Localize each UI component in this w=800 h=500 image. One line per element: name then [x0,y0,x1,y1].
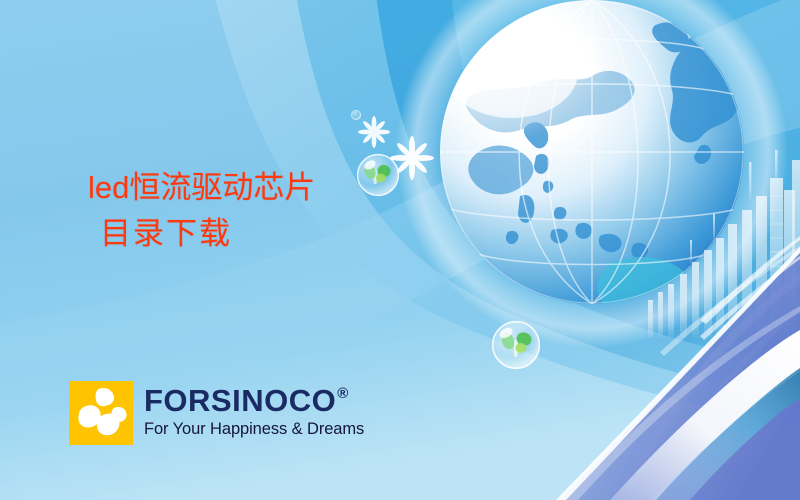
promo-banner: led恒流驱动芯片 目录下载 FORSINOCO ® [0,0,800,500]
logo-wordmark-text: FORSINOCO [144,385,336,416]
headline-line-1: led恒流驱动芯片 [88,165,315,211]
headline-block: led恒流驱动芯片 目录下载 [88,165,315,257]
forsinoco-clover-mark [69,381,133,445]
company-logo[interactable]: FORSINOCO ® For Your Happiness & Dreams [69,381,364,445]
logo-wordmark: FORSINOCO ® [144,385,364,416]
clover-petals-icon [69,381,133,445]
logo-tagline: For Your Happiness & Dreams [144,421,364,438]
registered-trademark-icon: ® [337,386,349,401]
logo-text-block: FORSINOCO ® For Your Happiness & Dreams [144,381,364,438]
headline-line-2: 目录下载 [88,211,315,257]
